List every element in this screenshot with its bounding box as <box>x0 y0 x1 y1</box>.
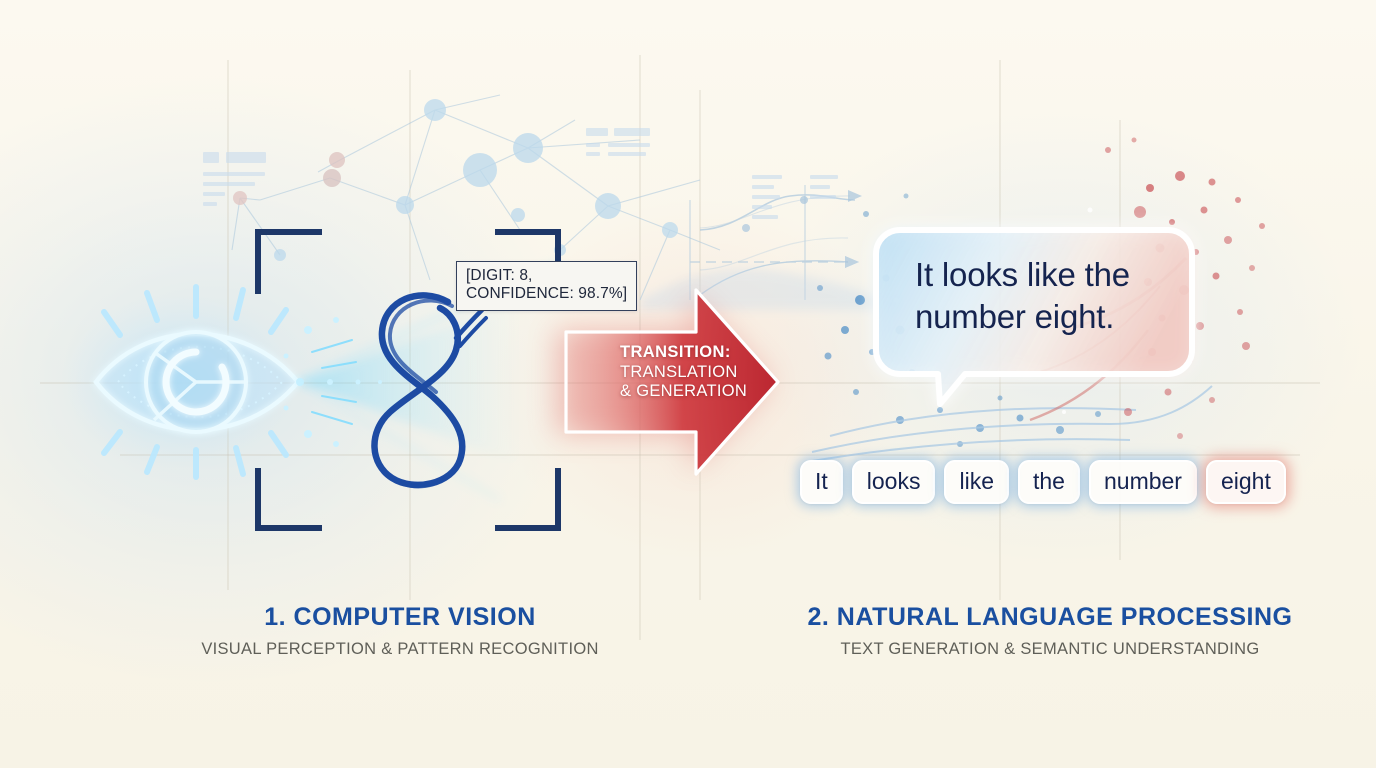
digit-confidence-label: [DIGIT: 8, CONFIDENCE: 98.7%] <box>456 261 637 311</box>
diagram-canvas: [DIGIT: 8, CONFIDENCE: 98.7%] TRANSITION… <box>0 0 1376 768</box>
token-chip[interactable]: number <box>1089 460 1197 504</box>
transition-line-1: TRANSITION: <box>620 343 770 363</box>
token-chip-list: It looks like the number eight <box>800 460 1286 504</box>
speech-bubble-text: It looks like the number eight. <box>915 254 1177 337</box>
transition-line-3: & GENERATION <box>620 382 770 402</box>
token-chip[interactable]: It <box>800 460 843 504</box>
stage-two-title: 2. NATURAL LANGUAGE PROCESSING <box>700 603 1376 632</box>
transition-line-2: TRANSLATION <box>620 363 770 383</box>
transition-arrow-label: TRANSITION: TRANSLATION & GENERATION <box>620 343 770 402</box>
token-chip[interactable]: looks <box>852 460 936 504</box>
stage-two-subtitle: TEXT GENERATION & SEMANTIC UNDERSTANDING <box>700 640 1376 659</box>
token-chip[interactable]: eight <box>1206 460 1286 504</box>
stage-one-subtitle: VISUAL PERCEPTION & PATTERN RECOGNITION <box>120 640 680 659</box>
token-chip[interactable]: like <box>944 460 1009 504</box>
handwritten-digit-8 <box>356 280 496 500</box>
stage-one-caption: 1. COMPUTER VISION VISUAL PERCEPTION & P… <box>120 603 680 659</box>
token-chip[interactable]: the <box>1018 460 1080 504</box>
stage-two-caption: 2. NATURAL LANGUAGE PROCESSING TEXT GENE… <box>700 603 1376 659</box>
stage-one-title: 1. COMPUTER VISION <box>120 603 680 632</box>
